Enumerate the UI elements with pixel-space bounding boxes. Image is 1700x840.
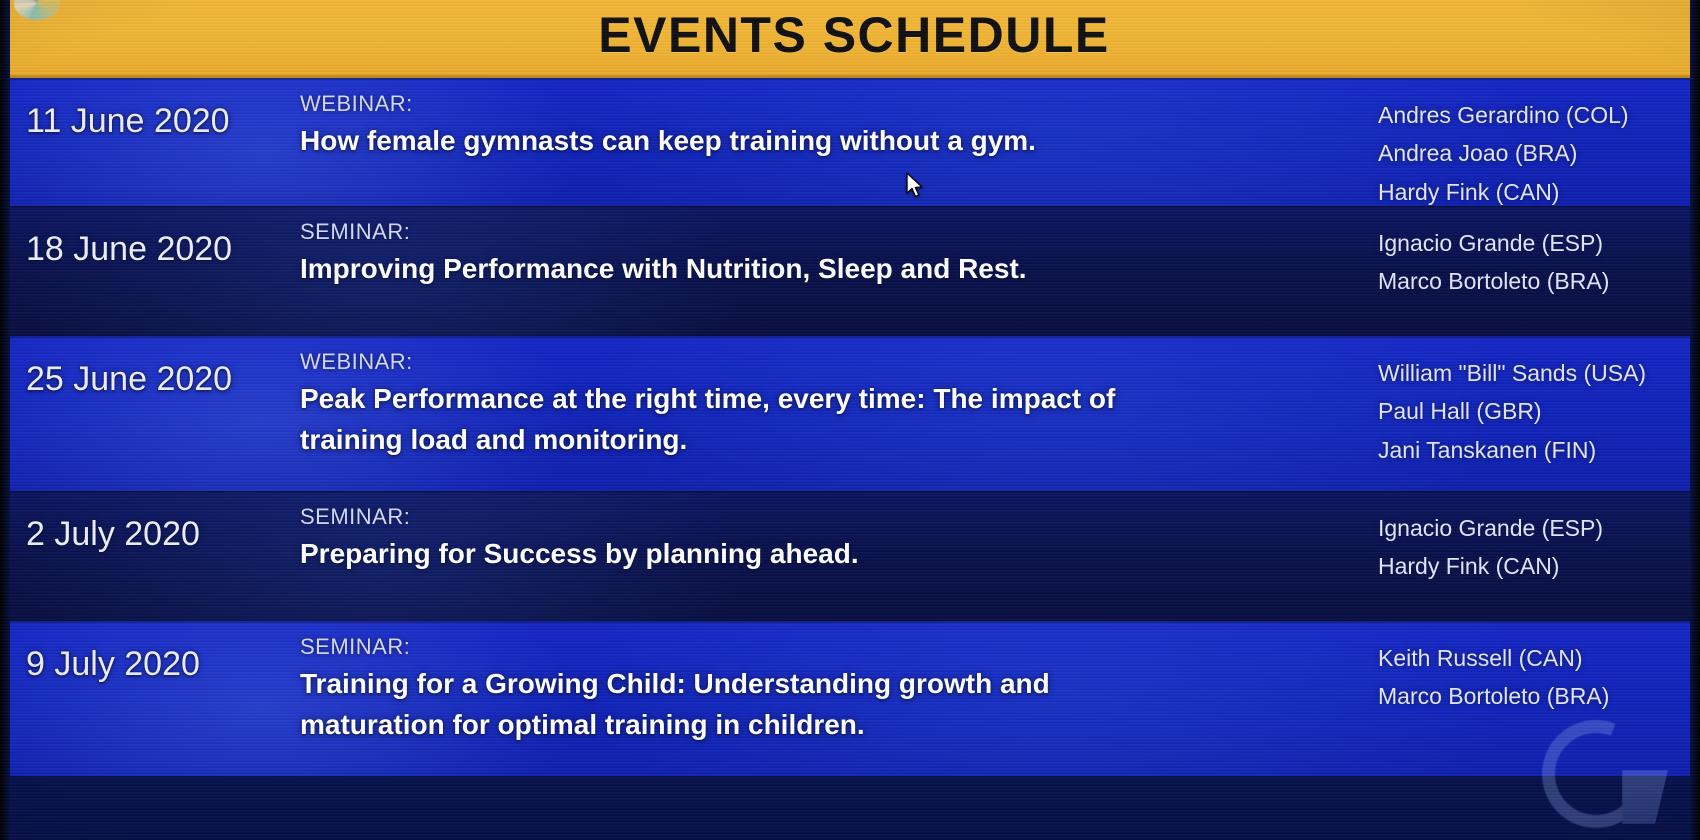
event-speakers: Ignacio Grande (ESP)Marco Bortoleto (BRA… bbox=[1378, 218, 1700, 301]
slide-right-edge bbox=[1690, 0, 1700, 840]
event-details: SEMINAR:Training for a Growing Child: Un… bbox=[300, 633, 1378, 745]
events-schedule-table: 11 June 2020WEBINAR:How female gymnasts … bbox=[8, 78, 1700, 840]
event-details: SEMINAR:Preparing for Success by plannin… bbox=[300, 503, 1378, 574]
event-title: Preparing for Success by planning ahead. bbox=[300, 533, 1354, 574]
speaker-name: Hardy Fink (CAN) bbox=[1378, 547, 1688, 585]
event-title: Training for a Growing Child: Understand… bbox=[300, 663, 1354, 704]
event-title: training load and monitoring. bbox=[300, 419, 1354, 460]
event-speakers: Ignacio Grande (ESP)Hardy Fink (CAN) bbox=[1378, 503, 1700, 586]
row-divider bbox=[8, 491, 1700, 493]
event-date: 18 June 2020 bbox=[8, 218, 300, 268]
event-type-label: SEMINAR: bbox=[300, 503, 1354, 531]
event-date: 9 July 2020 bbox=[8, 633, 300, 683]
event-details: SEMINAR:Improving Performance with Nutri… bbox=[300, 218, 1378, 289]
speaker-name: Andres Gerardino (COL) bbox=[1378, 96, 1688, 134]
event-title: Improving Performance with Nutrition, Sl… bbox=[300, 248, 1354, 289]
table-row: 11 June 2020WEBINAR:How female gymnasts … bbox=[8, 78, 1700, 206]
table-row: 2 July 2020SEMINAR:Preparing for Success… bbox=[8, 491, 1700, 621]
event-date: 25 June 2020 bbox=[8, 348, 300, 398]
row-divider bbox=[8, 621, 1700, 623]
slide-left-edge bbox=[0, 0, 10, 840]
speaker-name: Paul Hall (GBR) bbox=[1378, 392, 1688, 430]
row-divider bbox=[8, 206, 1700, 208]
table-row: 18 June 2020SEMINAR:Improving Performanc… bbox=[8, 206, 1700, 336]
event-speakers: Andres Gerardino (COL)Andrea Joao (BRA)H… bbox=[1378, 90, 1700, 206]
speaker-name: Keith Russell (CAN) bbox=[1378, 639, 1688, 677]
event-type-label: SEMINAR: bbox=[300, 218, 1354, 246]
event-title: How female gymnasts can keep training wi… bbox=[300, 120, 1354, 161]
event-type-label: WEBINAR: bbox=[300, 348, 1354, 376]
row-divider bbox=[8, 78, 1700, 80]
speaker-name: Andrea Joao (BRA) bbox=[1378, 134, 1688, 172]
event-speakers: William "Bill" Sands (USA)Paul Hall (GBR… bbox=[1378, 348, 1700, 469]
event-type-label: SEMINAR: bbox=[300, 633, 1354, 661]
speaker-name: Ignacio Grande (ESP) bbox=[1378, 224, 1688, 262]
speaker-name: Ignacio Grande (ESP) bbox=[1378, 509, 1688, 547]
speaker-name: Jani Tanskanen (FIN) bbox=[1378, 431, 1688, 469]
event-date: 2 July 2020 bbox=[8, 503, 300, 553]
event-date: 11 June 2020 bbox=[8, 90, 300, 140]
table-row: 9 July 2020SEMINAR:Training for a Growin… bbox=[8, 621, 1700, 776]
speaker-name: Hardy Fink (CAN) bbox=[1378, 173, 1688, 206]
speaker-name: Marco Bortoleto (BRA) bbox=[1378, 677, 1688, 715]
presentation-slide: EVENTS SCHEDULE 11 June 2020WEBINAR:How … bbox=[0, 0, 1700, 840]
row-divider bbox=[8, 336, 1700, 338]
table-row: 25 June 2020WEBINAR:Peak Performance at … bbox=[8, 336, 1700, 491]
event-title: Peak Performance at the right time, ever… bbox=[300, 378, 1354, 419]
event-type-label: WEBINAR: bbox=[300, 90, 1354, 118]
page-title: EVENTS SCHEDULE bbox=[8, 6, 1700, 64]
event-details: WEBINAR:Peak Performance at the right ti… bbox=[300, 348, 1378, 460]
speaker-name: William "Bill" Sands (USA) bbox=[1378, 354, 1688, 392]
event-title: maturation for optimal training in child… bbox=[300, 704, 1354, 745]
slide-header: EVENTS SCHEDULE bbox=[8, 0, 1700, 78]
event-details: WEBINAR:How female gymnasts can keep tra… bbox=[300, 90, 1378, 161]
event-speakers: Keith Russell (CAN)Marco Bortoleto (BRA) bbox=[1378, 633, 1700, 716]
speaker-name: Marco Bortoleto (BRA) bbox=[1378, 262, 1688, 300]
